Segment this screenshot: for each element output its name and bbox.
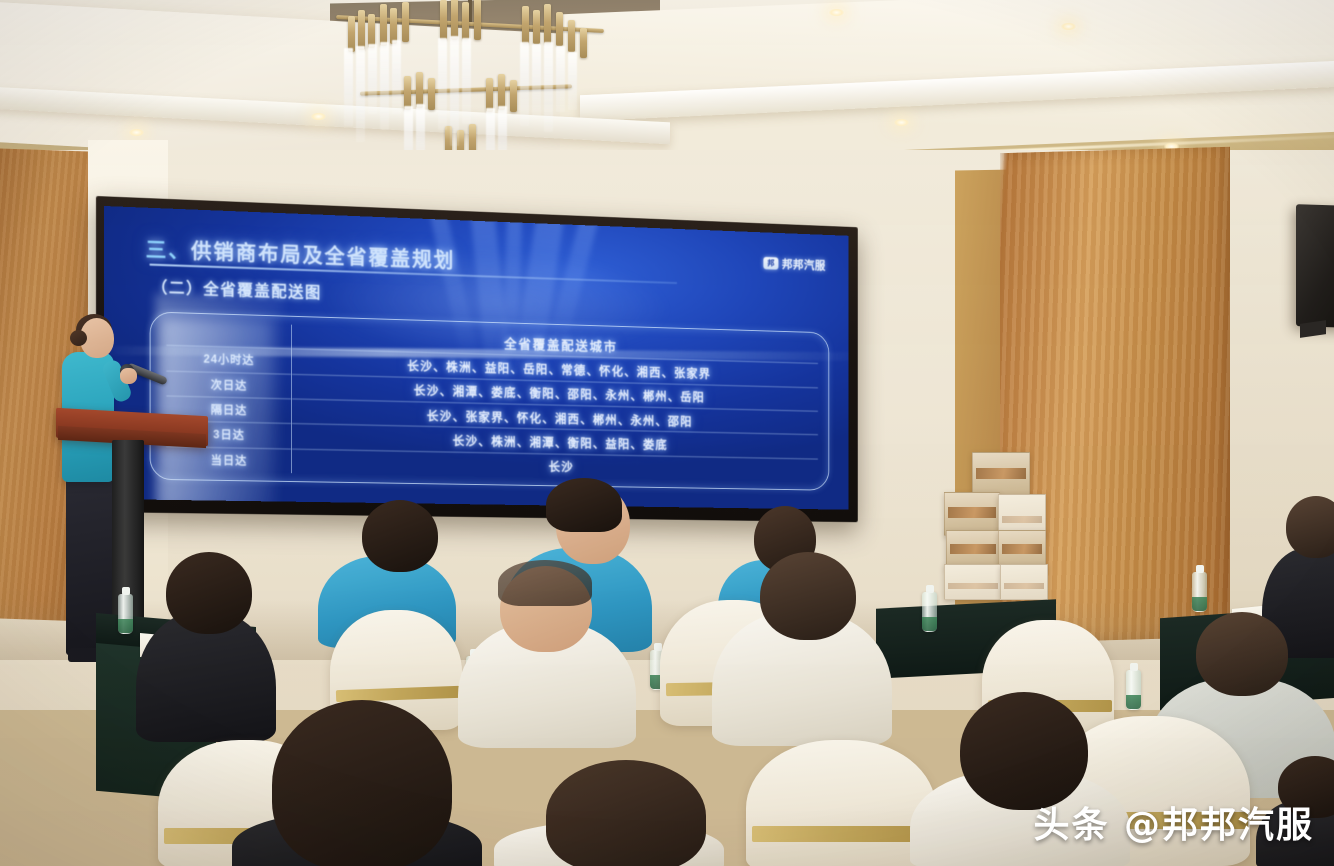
audience-head xyxy=(1286,496,1334,558)
audience-head xyxy=(166,552,252,634)
presenter-hair-bun xyxy=(70,330,87,346)
audience-head xyxy=(760,552,856,640)
slide-section-number: 三、 xyxy=(146,239,191,264)
audience-head xyxy=(272,700,452,866)
downlight-icon xyxy=(128,128,145,137)
watermark: 头条 @邦邦汽服 xyxy=(1033,796,1314,848)
chair-sash xyxy=(752,826,934,842)
slide-brand-logo: 邦 邦邦汽服 xyxy=(763,255,825,273)
screen-display: 三、供销商布局及全省覆盖规划 （二）全省覆盖配送图 邦 邦邦汽服 24小时达 次… xyxy=(104,206,848,510)
conference-photo: 三、供销商布局及全省覆盖规划 （二）全省覆盖配送图 邦 邦邦汽服 24小时达 次… xyxy=(0,0,1334,866)
audience-hair xyxy=(498,560,592,606)
water-bottle xyxy=(1126,670,1141,710)
product-box xyxy=(1000,564,1048,600)
pa-speaker xyxy=(1296,204,1334,328)
led-screen: 三、供销商布局及全省覆盖规划 （二）全省覆盖配送图 邦 邦邦汽服 24小时达 次… xyxy=(96,196,916,512)
slide-content: 三、供销商布局及全省覆盖规划 （二）全省覆盖配送图 邦 邦邦汽服 24小时达 次… xyxy=(104,206,848,510)
audience-head xyxy=(362,500,438,572)
product-box-stack xyxy=(944,452,1064,600)
screen-glare-left xyxy=(156,294,283,510)
water-bottle xyxy=(1192,572,1207,612)
water-bottle xyxy=(118,594,133,634)
audience-head xyxy=(1196,612,1288,696)
downlight-icon xyxy=(1060,22,1077,31)
audience-hair xyxy=(546,478,622,532)
water-bottle xyxy=(922,592,937,632)
downlight-icon xyxy=(828,8,845,17)
audience-head xyxy=(546,760,706,866)
downlight-icon xyxy=(893,118,910,127)
presenter-hand xyxy=(120,368,137,384)
chair xyxy=(746,740,936,866)
product-box xyxy=(944,564,1002,600)
brand-mark-icon: 邦 xyxy=(763,257,778,270)
audience-head xyxy=(960,692,1088,810)
brand-name: 邦邦汽服 xyxy=(782,256,826,274)
